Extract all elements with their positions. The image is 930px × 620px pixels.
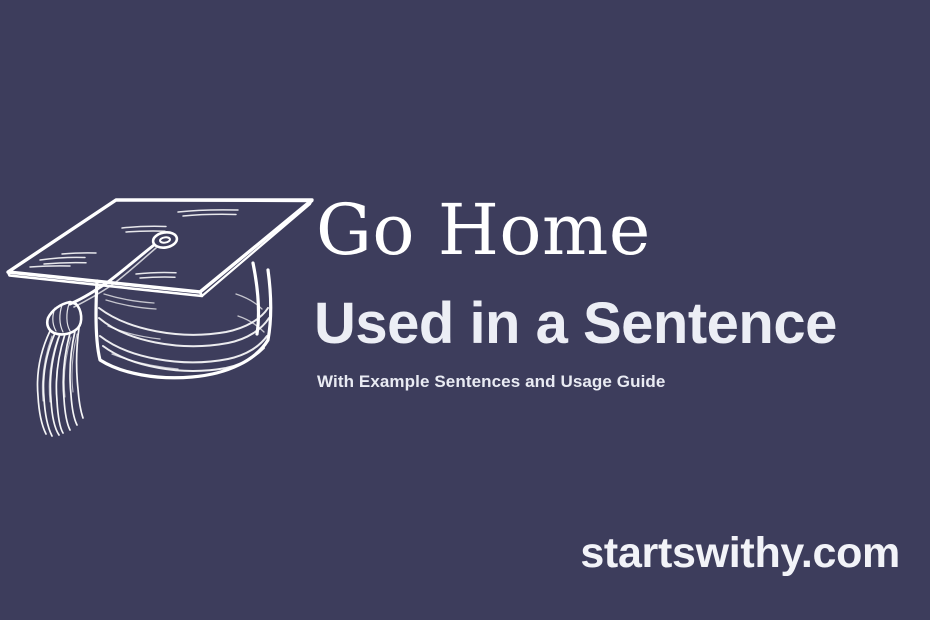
graduation-cap-icon (0, 168, 320, 453)
tassel-head (47, 302, 81, 334)
page-title: Go Home (316, 191, 651, 269)
cap-button-icon (152, 231, 178, 250)
page-subtitle: Used in a Sentence (314, 292, 837, 356)
page-tagline: With Example Sentences and Usage Guide (317, 371, 665, 393)
tassel-strands (38, 328, 84, 436)
cap-crown-texture (104, 294, 264, 369)
social-card-canvas: Go Home Used in a Sentence With Example … (0, 0, 930, 620)
brand-wordmark: startswithy.com (580, 528, 900, 578)
tassel-cord (70, 245, 156, 307)
